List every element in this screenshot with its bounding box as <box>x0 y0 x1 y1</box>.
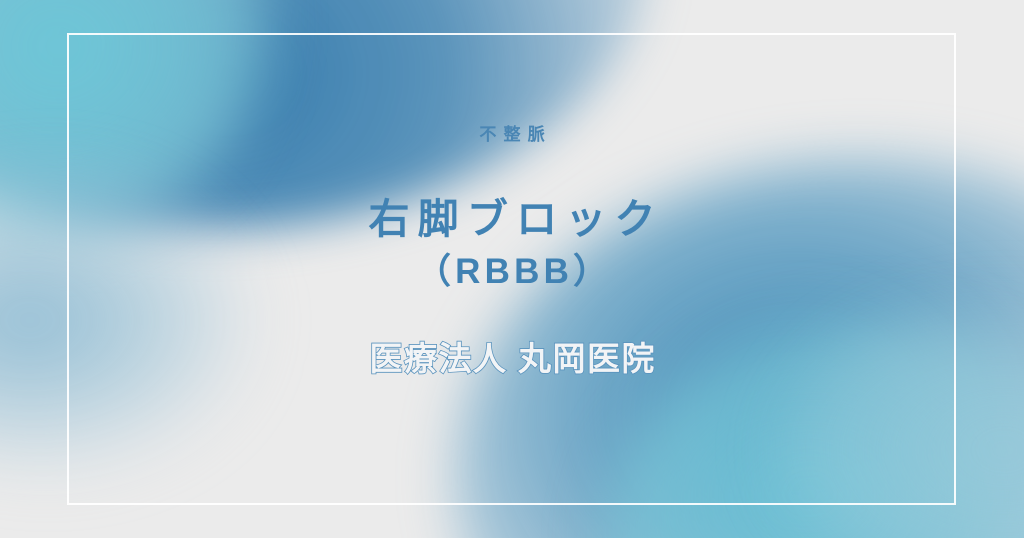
title-slide: 不整脈 右脚ブロック （RBBB） 医療法人 丸岡医院 <box>0 0 1024 538</box>
category-label: 不整脈 <box>472 126 552 143</box>
page-title-line-1: 右脚ブロック <box>360 195 663 243</box>
page-title-line-2: （RBBB） <box>412 251 613 292</box>
clinic-name: 医療法人 丸岡医院 <box>368 339 656 379</box>
slide-content: 不整脈 右脚ブロック （RBBB） 医療法人 丸岡医院 <box>0 0 1024 538</box>
